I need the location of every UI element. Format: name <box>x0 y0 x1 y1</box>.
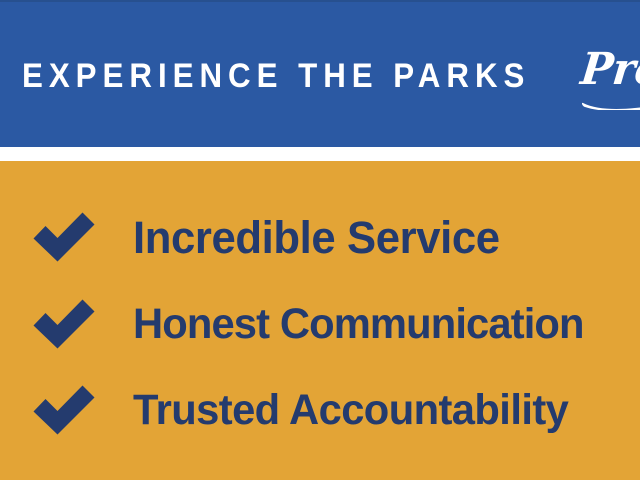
checkmark-icon <box>33 212 95 262</box>
list-item: Trusted Accountability <box>0 367 640 453</box>
checkmark-icon <box>33 385 95 435</box>
headline-primary: EXPERIENCE THE PARKS <box>22 59 530 93</box>
list-item: Honest Communication <box>0 281 640 367</box>
promise-list-panel: Incredible Service Honest Communication … <box>0 161 640 480</box>
promise-item-label: Trusted Accountability <box>133 389 568 432</box>
checkmark-cell <box>0 212 133 262</box>
promise-graphic: EXPERIENCE THE PARKS Promise Incredible … <box>0 0 640 480</box>
header-content: EXPERIENCE THE PARKS Promise <box>22 0 640 147</box>
list-item: Incredible Service <box>0 194 640 280</box>
promise-item-label: Honest Communication <box>133 303 584 346</box>
checkmark-cell <box>0 299 133 349</box>
checkmark-icon <box>33 299 95 349</box>
divider-band <box>0 147 640 161</box>
promise-item-label: Incredible Service <box>133 215 500 260</box>
checkmark-cell <box>0 385 133 435</box>
headline-script-group: Promise <box>581 48 640 92</box>
headline-script: Promise <box>578 48 640 92</box>
header-banner: EXPERIENCE THE PARKS Promise <box>0 0 640 147</box>
